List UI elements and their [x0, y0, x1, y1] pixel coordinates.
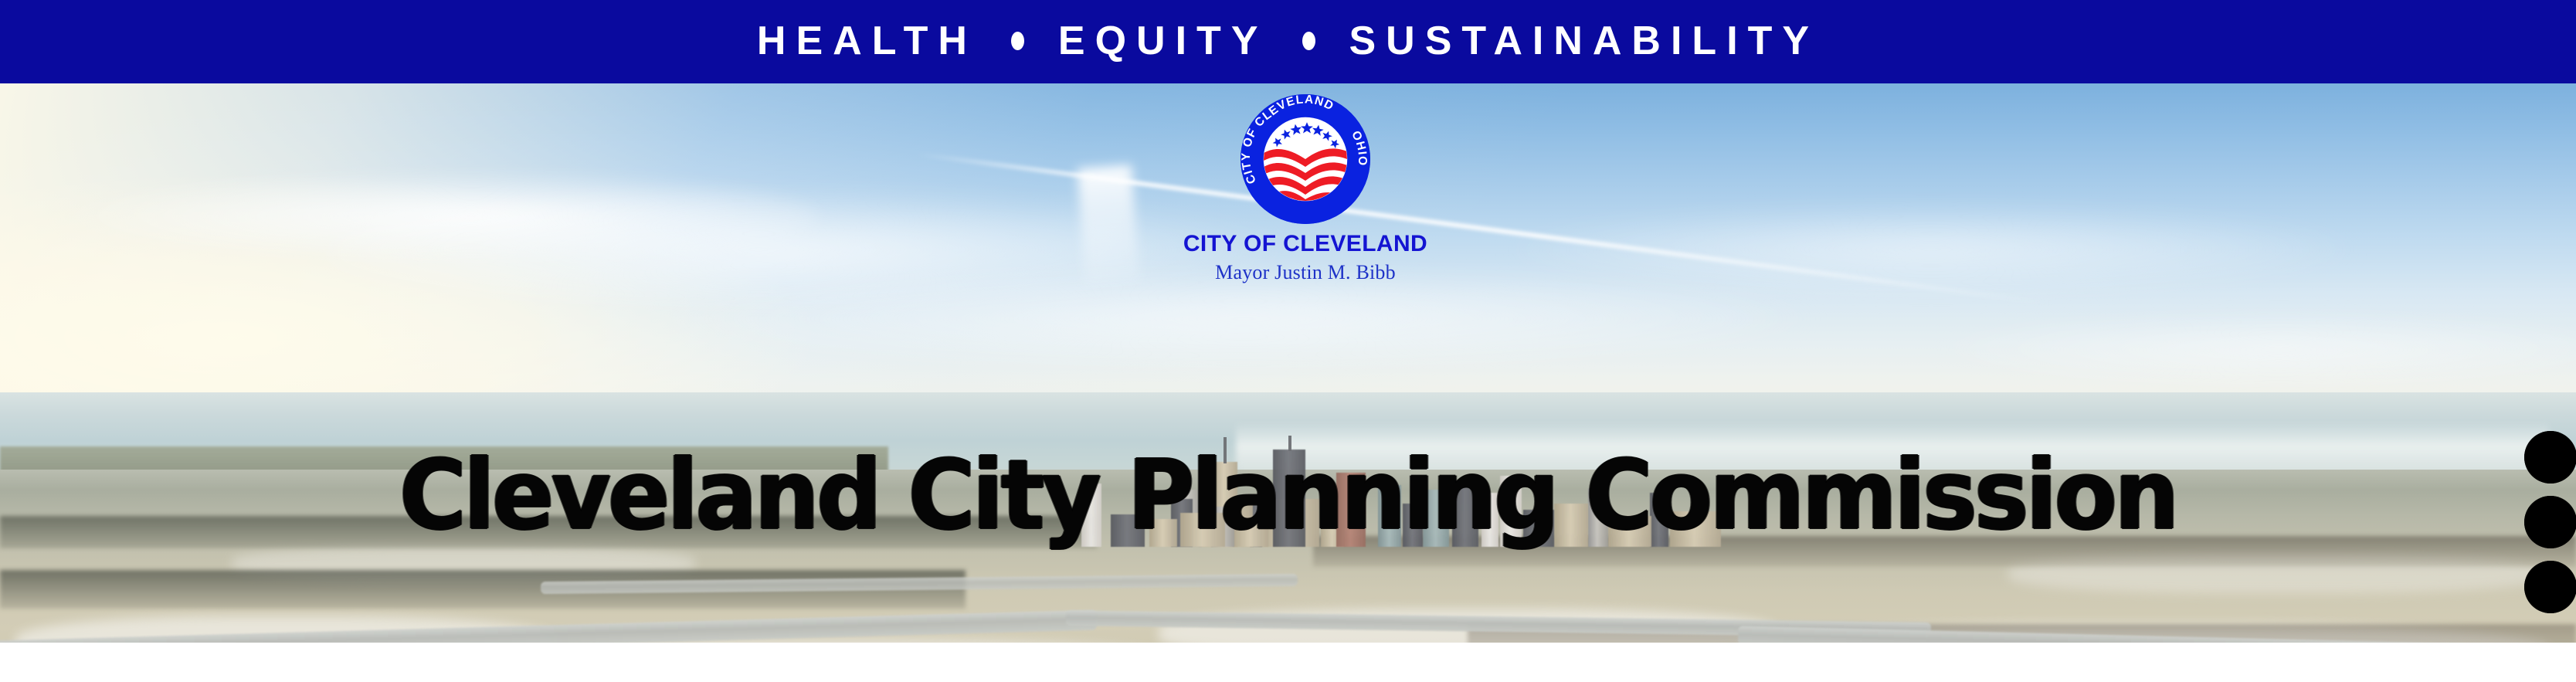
- city-name-label: CITY OF CLEVELAND: [1183, 232, 1427, 256]
- contrail-streak: [1078, 165, 1139, 285]
- facebook-link[interactable]: [2524, 561, 2576, 613]
- city-of-cleveland-brand-lockup[interactable]: CITY OF CLEVELAND OHIO: [1151, 94, 1460, 318]
- planning-commission-hero-banner: HEALTH EQUITY SUSTAINABILITY: [0, 0, 2576, 682]
- brand-wordmark: CITY OF CLEVELAND Mayor Justin M. Bibb: [1183, 232, 1427, 283]
- youtube-link[interactable]: [2524, 431, 2576, 484]
- tagline-banner: HEALTH EQUITY SUSTAINABILITY: [0, 0, 2576, 83]
- mayor-name-label: Mayor Justin M. Bibb: [1183, 263, 1427, 283]
- tagline-word-health: HEALTH: [757, 21, 977, 61]
- bottom-white-strip: [0, 643, 2576, 682]
- tagline-word-equity: EQUITY: [1058, 21, 1268, 61]
- social-media-rail: [2524, 431, 2576, 613]
- bullet-dot-icon: [1302, 32, 1315, 50]
- city-of-cleveland-seal-icon: CITY OF CLEVELAND OHIO: [1240, 94, 1370, 224]
- page-title: Cleveland City Planning Commission: [0, 446, 2576, 543]
- bullet-dot-icon: [1011, 32, 1024, 50]
- tagline-group: HEALTH EQUITY SUSTAINABILITY: [757, 21, 1819, 61]
- tagline-word-sustainability: SUSTAINABILITY: [1349, 21, 1820, 61]
- instagram-link[interactable]: [2524, 496, 2576, 548]
